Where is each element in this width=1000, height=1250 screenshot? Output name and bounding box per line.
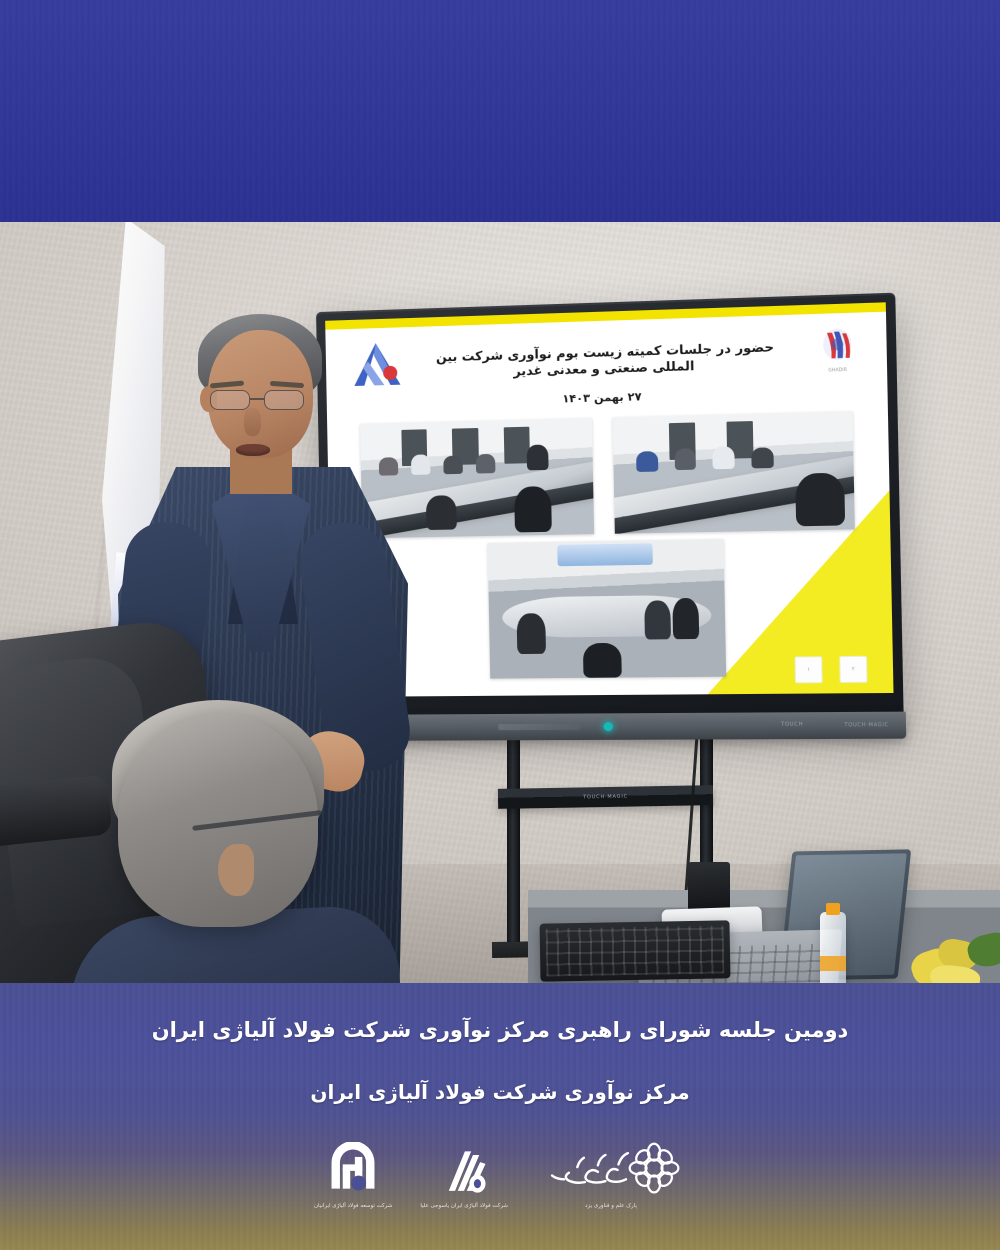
science-technology-park-logo: پارک علم و فناوری یزد [536, 1140, 686, 1209]
iasco-steel-logo: شرکت توسعه فولاد آلیاژی ایرانیان [314, 1142, 392, 1209]
display-screen[interactable]: GHADIR حضور در جلسات کمیته زیست بوم نوآو… [325, 302, 893, 697]
camera-on-mount [688, 862, 730, 914]
display-stand-shelf: TOUCH·MAGIC [498, 785, 713, 809]
alloy-steel-chevron-icon [438, 1146, 490, 1198]
stand-brand-label: TOUCH·MAGIC [583, 794, 628, 801]
eyeglasses-icon [206, 390, 314, 412]
keyboard[interactable] [540, 920, 731, 981]
caption-line-2: مرکز نوآوری شرکت فولاد آلیاژی ایران [0, 1079, 1000, 1106]
power-indicator-icon[interactable] [604, 722, 613, 731]
meeting-photo-bottom [487, 539, 726, 679]
audience-member-ear [218, 844, 254, 896]
presenter-nose [244, 408, 261, 436]
presenter-mouth [236, 444, 270, 456]
bezel-brand-label: TOUCH·MAGIC [844, 722, 889, 728]
slide-logo-right-caption: GHADIR [828, 367, 847, 373]
iranian-alloy-steel-logo-caption: شرکت فولاد آلیاژی ایران یاسوجی علیا [420, 1203, 508, 1209]
water-bottle [820, 912, 846, 984]
slide-date: ۲۷ بهمن ۱۴۰۳ [327, 383, 888, 411]
science-technology-park-logo-caption: پارک علم و فناوری یزد [585, 1203, 637, 1209]
top-banner [0, 0, 1000, 222]
iasco-mark-icon [324, 1142, 382, 1198]
bezel-decoration [498, 724, 580, 730]
audience-member [118, 712, 318, 927]
slide-corner-chip-1: ۱ [795, 656, 823, 683]
iranian-alloy-steel-logo: شرکت فولاد آلیاژی ایران یاسوجی علیا [420, 1146, 508, 1209]
slide-photo-grid [360, 411, 858, 682]
footer-logo-row: شرکت توسعه فولاد آلیاژی ایرانیان شرکت فو… [0, 1140, 1000, 1209]
bezel-brand-secondary: TOUCH [781, 721, 803, 727]
iasco-steel-logo-caption: شرکت توسعه فولاد آلیاژی ایرانیان [314, 1203, 392, 1209]
rosette-icon [536, 1140, 686, 1198]
poster-root: TOUCH·MAGIC [0, 0, 1000, 1250]
caption-line-1: دومین جلسه شورای راهبری مرکز نوآوری شرکت… [0, 1016, 1000, 1044]
event-photograph: TOUCH·MAGIC [0, 222, 1000, 984]
meeting-photo-top-right [612, 411, 855, 533]
caption-band: دومین جلسه شورای راهبری مرکز نوآوری شرکت… [0, 983, 1000, 1250]
slide-corner-chip-2: ۲ [839, 656, 867, 683]
fruit-plate [912, 934, 1000, 984]
presentation-slide: GHADIR حضور در جلسات کمیته زیست بوم نوآو… [325, 302, 893, 697]
ghadir-circle-logo-icon: GHADIR [814, 326, 862, 379]
display-stand-post-left [507, 712, 520, 942]
slide-title: حضور در جلسات کمیته زیست بوم نوآوری شرکت… [422, 339, 789, 382]
